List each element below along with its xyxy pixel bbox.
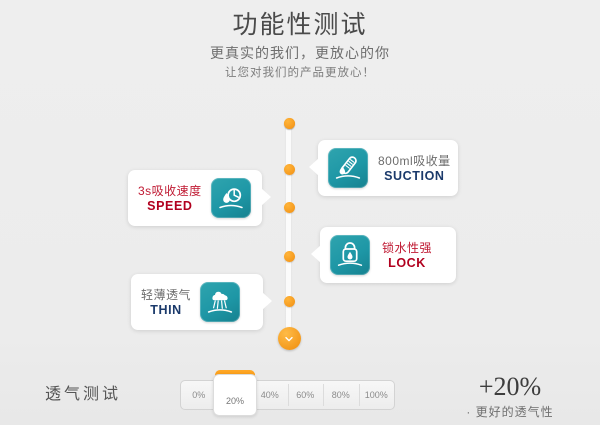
breathability-test-bar: 透气测试 0% 20% 40% 60% 80% 100% 20% +20% · …	[0, 370, 600, 425]
timeline-dot-4	[284, 251, 295, 262]
feature-card-suction[interactable]: 800ml吸收量 SUCTION	[318, 140, 458, 196]
timeline-line	[286, 118, 291, 350]
card-label-cn: 3s吸收速度	[138, 183, 202, 199]
card-label-en: SUCTION	[378, 169, 451, 184]
result-value: +20%	[440, 372, 580, 402]
card-pointer	[311, 245, 321, 263]
card-pointer	[261, 188, 271, 206]
card-label-en: THIN	[141, 303, 191, 318]
scale-tick-80[interactable]: 80%	[323, 390, 359, 400]
page-subtitle-2: 让您对我们的产品更放心！	[0, 64, 600, 83]
feature-card-speed[interactable]: 3s吸收速度 SPEED	[128, 170, 262, 226]
timeline-dot-5	[284, 296, 295, 307]
selected-value-text: 20%	[226, 396, 244, 406]
card-text: 锁水性强 LOCK	[382, 240, 432, 271]
result-block: +20% · 更好的透气性	[440, 372, 580, 422]
page-subtitle-1: 更真实的我们，更放心的你	[0, 42, 600, 64]
scale-tick-0[interactable]: 0%	[181, 390, 217, 400]
breathability-label: 透气测试	[45, 380, 121, 404]
airflow-cloud-icon	[200, 282, 240, 322]
timeline-end-button[interactable]	[278, 327, 301, 350]
card-label-cn: 轻薄透气	[141, 287, 191, 303]
card-label-cn: 锁水性强	[382, 240, 432, 256]
timeline-dot-2	[284, 164, 295, 175]
page-title: 功能性测试	[0, 8, 600, 42]
test-tube-icon	[328, 148, 368, 188]
header: 功能性测试 更真实的我们，更放心的你 让您对我们的产品更放心！	[0, 8, 600, 83]
droplet-clock-icon	[211, 178, 251, 218]
selected-value-chip[interactable]: 20%	[213, 374, 257, 416]
card-label-en: LOCK	[382, 256, 432, 271]
card-label-cn: 800ml吸收量	[378, 153, 451, 169]
lock-droplet-icon	[330, 235, 370, 275]
chevron-down-icon	[283, 333, 295, 345]
card-pointer	[309, 158, 319, 176]
feature-card-lock[interactable]: 锁水性强 LOCK	[320, 227, 456, 283]
feature-card-thin[interactable]: 轻薄透气 THIN	[131, 274, 263, 330]
card-text: 800ml吸收量 SUCTION	[378, 153, 451, 184]
card-label-en: SPEED	[138, 199, 202, 214]
scale-tick-40[interactable]: 40%	[252, 390, 288, 400]
poster-root: 功能性测试 更真实的我们，更放心的你 让您对我们的产品更放心！ 3s吸收速度 S…	[0, 0, 600, 425]
result-caption: · 更好的透气性	[440, 402, 580, 422]
card-text: 轻薄透气 THIN	[141, 287, 191, 318]
timeline	[285, 118, 293, 350]
card-pointer	[262, 292, 272, 310]
scale-tick-100[interactable]: 100%	[359, 390, 395, 400]
card-text: 3s吸收速度 SPEED	[138, 183, 202, 214]
scale-tick-60[interactable]: 60%	[288, 390, 324, 400]
timeline-dot-3	[284, 202, 295, 213]
